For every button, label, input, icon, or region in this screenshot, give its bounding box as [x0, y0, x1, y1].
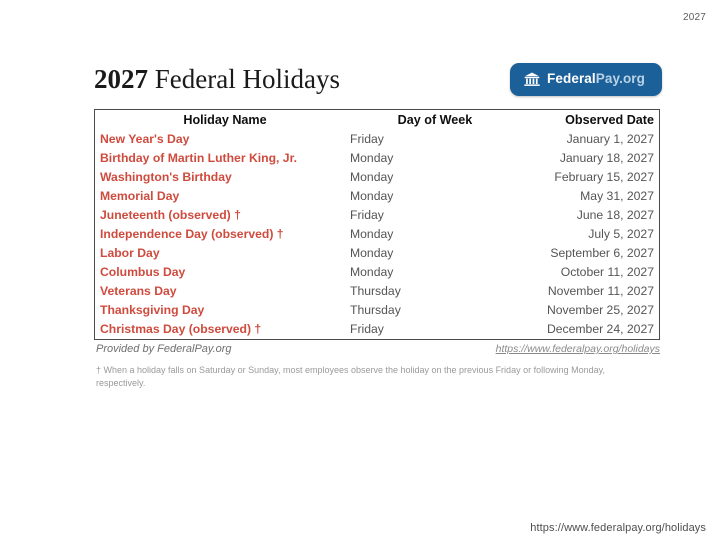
federalpay-brand-badge[interactable]: FederalPay.org	[510, 63, 662, 96]
cell-day-of-week: Monday	[350, 187, 520, 206]
table-row: Labor DayMondaySeptember 6, 2027	[95, 244, 659, 263]
holiday-table: Holiday Name Day of Week Observed Date N…	[95, 110, 659, 339]
title-row: 2027 Federal Holidays FederalPay.org	[94, 58, 662, 100]
column-header-observed-date: Observed Date	[520, 110, 659, 130]
cell-observed-date: November 25, 2027	[520, 301, 659, 320]
page-title: 2027 Federal Holidays	[94, 66, 340, 93]
cell-holiday-name: Juneteenth (observed) †	[95, 206, 350, 225]
footnote-text: † When a holiday falls on Saturday or Su…	[96, 364, 652, 390]
table-footer: Provided by FederalPay.org https://www.f…	[96, 343, 660, 355]
cell-observed-date: October 11, 2027	[520, 263, 659, 282]
cell-day-of-week: Friday	[350, 206, 520, 225]
cell-holiday-name: Memorial Day	[95, 187, 350, 206]
cell-day-of-week: Monday	[350, 149, 520, 168]
table-row: Thanksgiving DayThursdayNovember 25, 202…	[95, 301, 659, 320]
table-head: Holiday Name Day of Week Observed Date	[95, 110, 659, 130]
page-running-head: 2027	[683, 12, 706, 23]
table-row: Columbus DayMondayOctober 11, 2027	[95, 263, 659, 282]
cell-holiday-name: Veterans Day	[95, 282, 350, 301]
table-row: Washington's BirthdayMondayFebruary 15, …	[95, 168, 659, 187]
cell-day-of-week: Friday	[350, 320, 520, 339]
cell-observed-date: June 18, 2027	[520, 206, 659, 225]
provided-by-label: Provided by FederalPay.org	[96, 343, 232, 355]
cell-day-of-week: Monday	[350, 244, 520, 263]
page-title-year: 2027	[94, 64, 148, 94]
table-row: Juneteenth (observed) †FridayJune 18, 20…	[95, 206, 659, 225]
cell-holiday-name: New Year's Day	[95, 130, 350, 149]
cell-observed-date: May 31, 2027	[520, 187, 659, 206]
cell-holiday-name: Independence Day (observed) †	[95, 225, 350, 244]
cell-holiday-name: Christmas Day (observed) †	[95, 320, 350, 339]
table-row: Memorial DayMondayMay 31, 2027	[95, 187, 659, 206]
cell-observed-date: September 6, 2027	[520, 244, 659, 263]
brand-text-secondary: Pay.org	[596, 71, 645, 86]
table-row: New Year's DayFridayJanuary 1, 2027	[95, 130, 659, 149]
table-row: Veterans DayThursdayNovember 11, 2027	[95, 282, 659, 301]
cell-observed-date: January 1, 2027	[520, 130, 659, 149]
holiday-table-container: Holiday Name Day of Week Observed Date N…	[94, 109, 660, 340]
cell-holiday-name: Birthday of Martin Luther King, Jr.	[95, 149, 350, 168]
cell-day-of-week: Friday	[350, 130, 520, 149]
cell-day-of-week: Thursday	[350, 301, 520, 320]
cell-observed-date: February 15, 2027	[520, 168, 659, 187]
brand-text-primary: Federal	[547, 71, 596, 86]
cell-holiday-name: Labor Day	[95, 244, 350, 263]
cell-observed-date: December 24, 2027	[520, 320, 659, 339]
brand-text: FederalPay.org	[547, 72, 645, 86]
table-row: Christmas Day (observed) †FridayDecember…	[95, 320, 659, 339]
cell-observed-date: January 18, 2027	[520, 149, 659, 168]
table-body: New Year's DayFridayJanuary 1, 2027Birth…	[95, 130, 659, 339]
cell-observed-date: July 5, 2027	[520, 225, 659, 244]
cell-day-of-week: Thursday	[350, 282, 520, 301]
cell-observed-date: November 11, 2027	[520, 282, 659, 301]
page-title-rest: Federal Holidays	[148, 64, 340, 94]
table-row: Independence Day (observed) †MondayJuly …	[95, 225, 659, 244]
table-row: Birthday of Martin Luther King, Jr.Monda…	[95, 149, 659, 168]
table-header-row: Holiday Name Day of Week Observed Date	[95, 110, 659, 130]
bank-building-icon	[524, 72, 540, 87]
source-link[interactable]: https://www.federalpay.org/holidays	[496, 343, 660, 355]
cell-holiday-name: Columbus Day	[95, 263, 350, 282]
cell-day-of-week: Monday	[350, 168, 520, 187]
page-bottom-url: https://www.federalpay.org/holidays	[530, 522, 706, 534]
cell-day-of-week: Monday	[350, 263, 520, 282]
column-header-holiday-name: Holiday Name	[95, 110, 350, 130]
column-header-day-of-week: Day of Week	[350, 110, 520, 130]
cell-holiday-name: Washington's Birthday	[95, 168, 350, 187]
cell-holiday-name: Thanksgiving Day	[95, 301, 350, 320]
cell-day-of-week: Monday	[350, 225, 520, 244]
